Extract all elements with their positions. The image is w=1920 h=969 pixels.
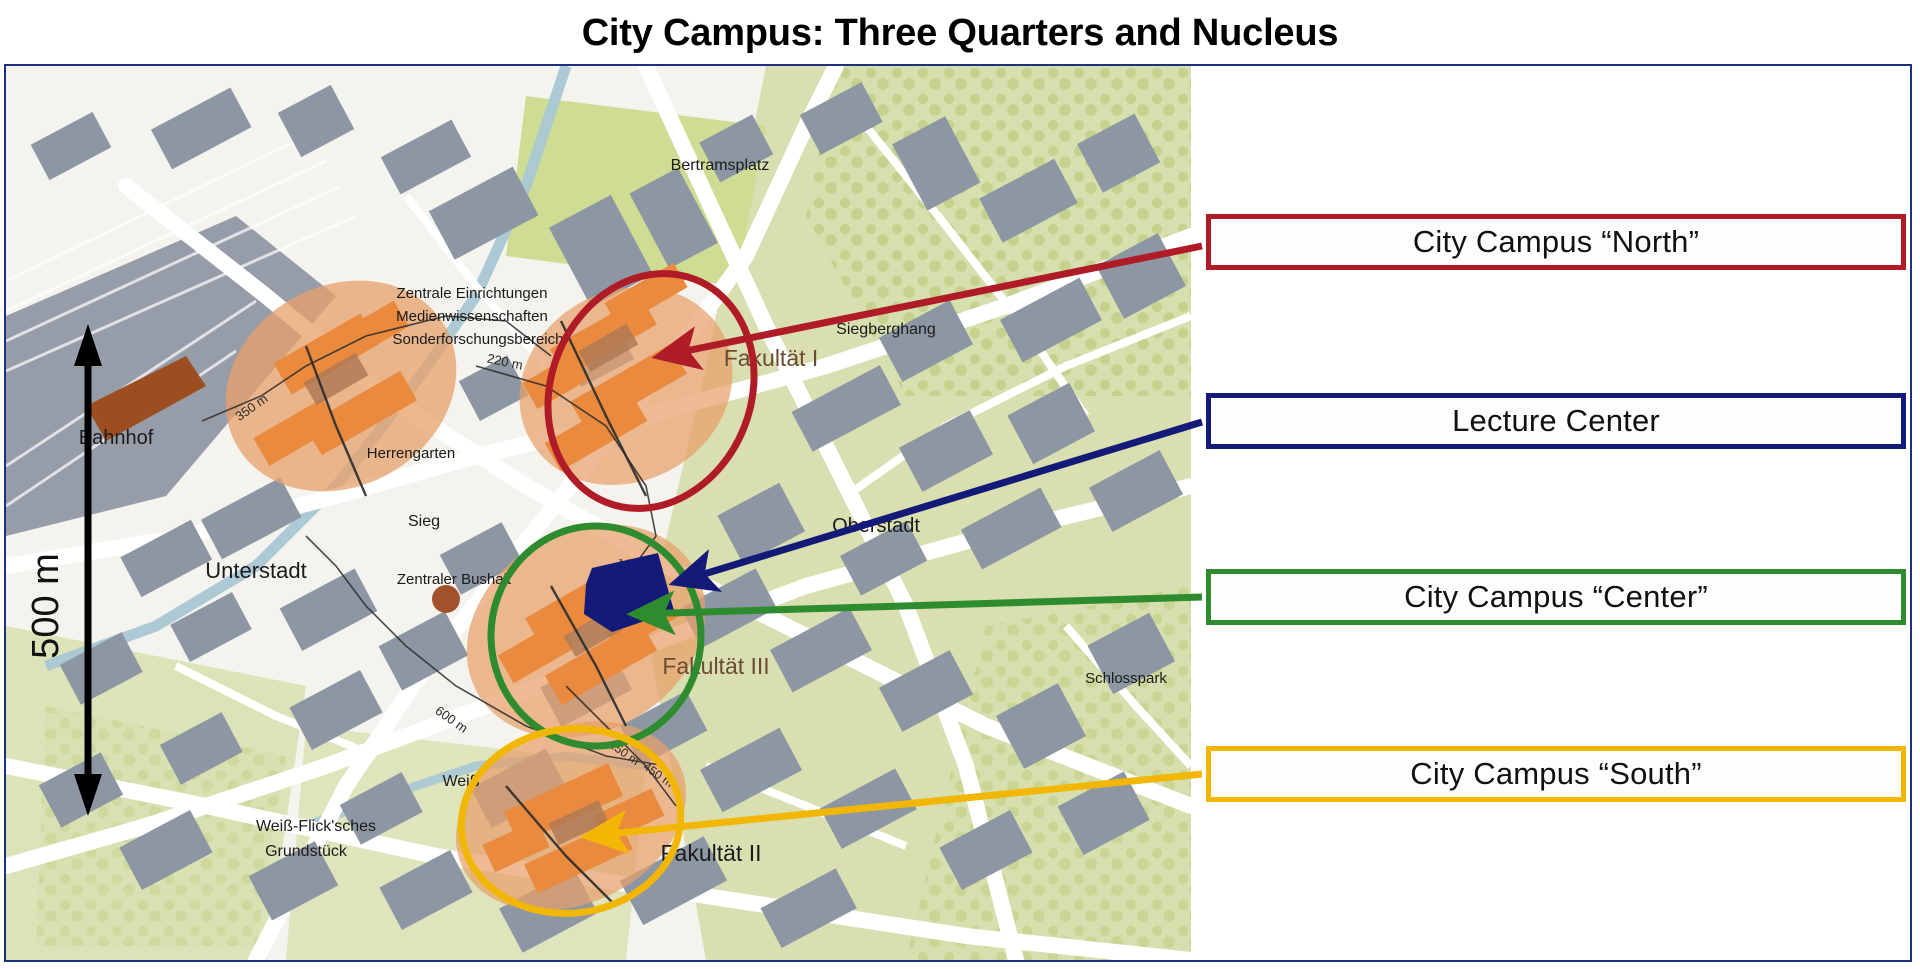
legend-label-center: City Campus “Center” (1404, 579, 1708, 615)
map-label-grundstueck: Grundstück (265, 843, 348, 860)
map-label-schlosspark: Schlosspark (1085, 670, 1167, 687)
map-label-siegberghang: Siegberghang (836, 321, 936, 338)
legend-item-lecture-center[interactable]: Lecture Center (1206, 393, 1906, 449)
map-label-bertramsplatz: Bertramsplatz (671, 157, 770, 174)
map-label-unterstadt: Unterstadt (205, 558, 307, 583)
bus-stop-dot (432, 585, 460, 613)
map-panel[interactable]: Bertramsplatz Siegberghang Oberstadt Sch… (6, 66, 1191, 960)
legend-label-north: City Campus “North” (1413, 224, 1699, 260)
map-label-weiss-flicksches: Weiß-Flick'sches (256, 818, 376, 835)
legend-label-lecture-center: Lecture Center (1452, 403, 1660, 439)
map-label-oberstadt: Oberstadt (832, 515, 920, 537)
scale-bar-label: 500 m (25, 553, 67, 659)
map-label-herrengarten: Herrengarten (367, 445, 455, 462)
map-label-sonderforschungsbereich: Sonderforschungsbereich (393, 331, 564, 348)
map-base-layer (6, 66, 1191, 960)
legend-item-south[interactable]: City Campus “South” (1206, 746, 1906, 802)
map-label-zentraler-bushalt: Zentraler Bushalt (397, 571, 512, 588)
map-label-zentrale-einrichtungen: Zentrale Einrichtungen (397, 285, 548, 302)
map-label-medienwissenschaften: Medienwissenschaften (396, 308, 548, 325)
map-label-fakultaet-1: Fakultät I (724, 345, 819, 371)
legend-label-south: City Campus “South” (1410, 756, 1702, 792)
map-label-fakultaet-3: Fakultät III (662, 653, 769, 679)
legend-item-center[interactable]: City Campus “Center” (1206, 569, 1906, 625)
legend-item-north[interactable]: City Campus “North” (1206, 214, 1906, 270)
slide-content-frame: Bertramsplatz Siegberghang Oberstadt Sch… (4, 64, 1912, 962)
page-title: City Campus: Three Quarters and Nucleus (0, 12, 1920, 55)
city-map: Bertramsplatz Siegberghang Oberstadt Sch… (6, 66, 1191, 960)
map-label-sieg: Sieg (408, 513, 440, 530)
